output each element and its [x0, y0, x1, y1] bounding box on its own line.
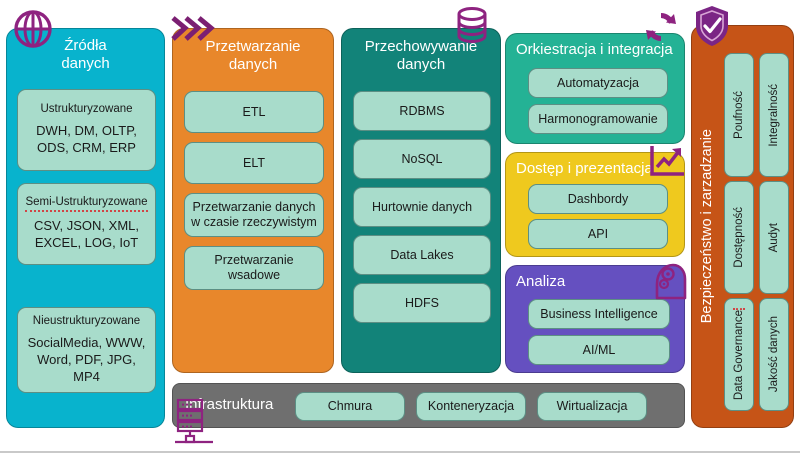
processing-item-batch[interactable]: Przetwarzanie wsadowe — [184, 246, 324, 290]
security-item-data-governance[interactable]: Data Governance — [724, 298, 754, 411]
shield-check-icon — [692, 4, 732, 48]
security-item-confidentiality-label: Poufność — [733, 91, 745, 139]
source-item-semistructured-body-line1: CSV, JSON, XML, — [34, 217, 139, 234]
access-item-api[interactable]: API — [528, 219, 668, 249]
processing-item-elt[interactable]: ELT — [184, 142, 324, 184]
analysis-item-aiml[interactable]: AI/ML — [528, 335, 670, 365]
security-item-confidentiality[interactable]: Poufność — [724, 53, 754, 177]
storage-item-nosql[interactable]: NoSQL — [353, 139, 491, 179]
processing-item-realtime[interactable]: Przetwarzanie danych w czasie rzeczywist… — [184, 193, 324, 237]
analysis-item-bi[interactable]: Business Intelligence — [528, 299, 670, 329]
storage-item-hdfs[interactable]: HDFS — [353, 283, 491, 323]
processing-item-etl[interactable]: ETL — [184, 91, 324, 133]
orchestration-item-scheduling[interactable]: Harmonogramowanie — [528, 104, 668, 134]
panel-security-governance[interactable]: Bezpieczeństwo i zarzadzanie Poufność In… — [691, 25, 794, 428]
panel-data-processing[interactable]: Przetwarzanie danych ETL ELT Przetwarzan… — [172, 28, 334, 373]
security-item-integrity-label: Integralność — [768, 84, 780, 147]
orchestration-item-automation[interactable]: Automatyzacja — [528, 68, 668, 98]
chart-growth-icon — [648, 144, 686, 180]
security-item-data-quality[interactable]: Jakość danych — [759, 298, 789, 411]
security-item-availability[interactable]: Dostępność — [724, 181, 754, 294]
storage-item-datawarehouse[interactable]: Hurtownie danych — [353, 187, 491, 227]
source-item-semistructured-head: Semi-Ustrukturyzowane — [25, 195, 147, 212]
panel-orchestration[interactable]: Orkiestracja i integracja Automatyzacja … — [505, 33, 685, 144]
head-gears-icon — [652, 262, 688, 300]
architecture-diagram: Źródła danych Ustrukturyzowane DWH, DM, … — [0, 0, 800, 453]
globe-icon — [12, 8, 54, 50]
storage-item-rdbms[interactable]: RDBMS — [353, 91, 491, 131]
source-item-unstructured-head: Nieustrukturyzowane — [33, 314, 140, 329]
chevrons-icon — [169, 14, 217, 44]
security-item-audit[interactable]: Audyt — [759, 181, 789, 294]
security-item-availability-label: Dostępność — [733, 207, 745, 268]
security-item-data-governance-label: Data Governance — [733, 308, 745, 400]
source-item-structured-body-line1: DWH, DM, OLTP, — [36, 122, 137, 139]
source-item-structured[interactable]: Ustrukturyzowane DWH, DM, OLTP, ODS, CRM… — [17, 89, 156, 171]
storage-item-datalakes[interactable]: Data Lakes — [353, 235, 491, 275]
database-icon — [455, 5, 489, 45]
panel-title-line2: danych — [173, 56, 333, 74]
panel-title-line2: danych — [342, 56, 500, 74]
infrastructure-item-virtualization[interactable]: Wirtualizacja — [537, 392, 647, 421]
security-item-audit-label: Audyt — [768, 223, 780, 252]
source-item-semistructured-body-line2: EXCEL, LOG, IoT — [35, 234, 138, 251]
source-item-unstructured-body-line2: Word, PDF, JPG, MP4 — [22, 351, 151, 385]
panel-data-storage[interactable]: Przechowywanie danych RDBMS NoSQL Hurtow… — [341, 28, 501, 373]
source-item-unstructured-body-line1: SocialMedia, WWW, — [28, 334, 146, 351]
security-item-data-quality-label: Jakość danych — [768, 316, 780, 392]
panel-title-security-governance: Bezpieczeństwo i zarzadzanie — [694, 26, 720, 427]
source-item-semistructured[interactable]: Semi-Ustrukturyzowane CSV, JSON, XML, EX… — [17, 183, 156, 265]
panel-title-line2: danych — [7, 55, 164, 73]
source-item-structured-body-line2: ODS, CRM, ERP — [37, 139, 136, 156]
source-item-unstructured[interactable]: Nieustrukturyzowane SocialMedia, WWW, Wo… — [17, 307, 156, 393]
panel-title-security-text: Bezpieczeństwo i zarzadzanie — [699, 129, 715, 323]
infrastructure-item-cloud[interactable]: Chmura — [295, 392, 405, 421]
infrastructure-item-containerization[interactable]: Konteneryzacja — [416, 392, 526, 421]
panel-infrastructure[interactable]: Infrastruktura Chmura Konteneryzacja Wir… — [172, 383, 685, 428]
source-item-structured-head: Ustrukturyzowane — [40, 102, 132, 117]
access-item-dashboards[interactable]: Dashbordy — [528, 184, 668, 214]
server-rack-icon — [173, 398, 215, 446]
panel-data-sources[interactable]: Źródła danych Ustrukturyzowane DWH, DM, … — [6, 28, 165, 428]
refresh-cycle-icon — [641, 9, 681, 45]
security-item-integrity[interactable]: Integralność — [759, 53, 789, 177]
